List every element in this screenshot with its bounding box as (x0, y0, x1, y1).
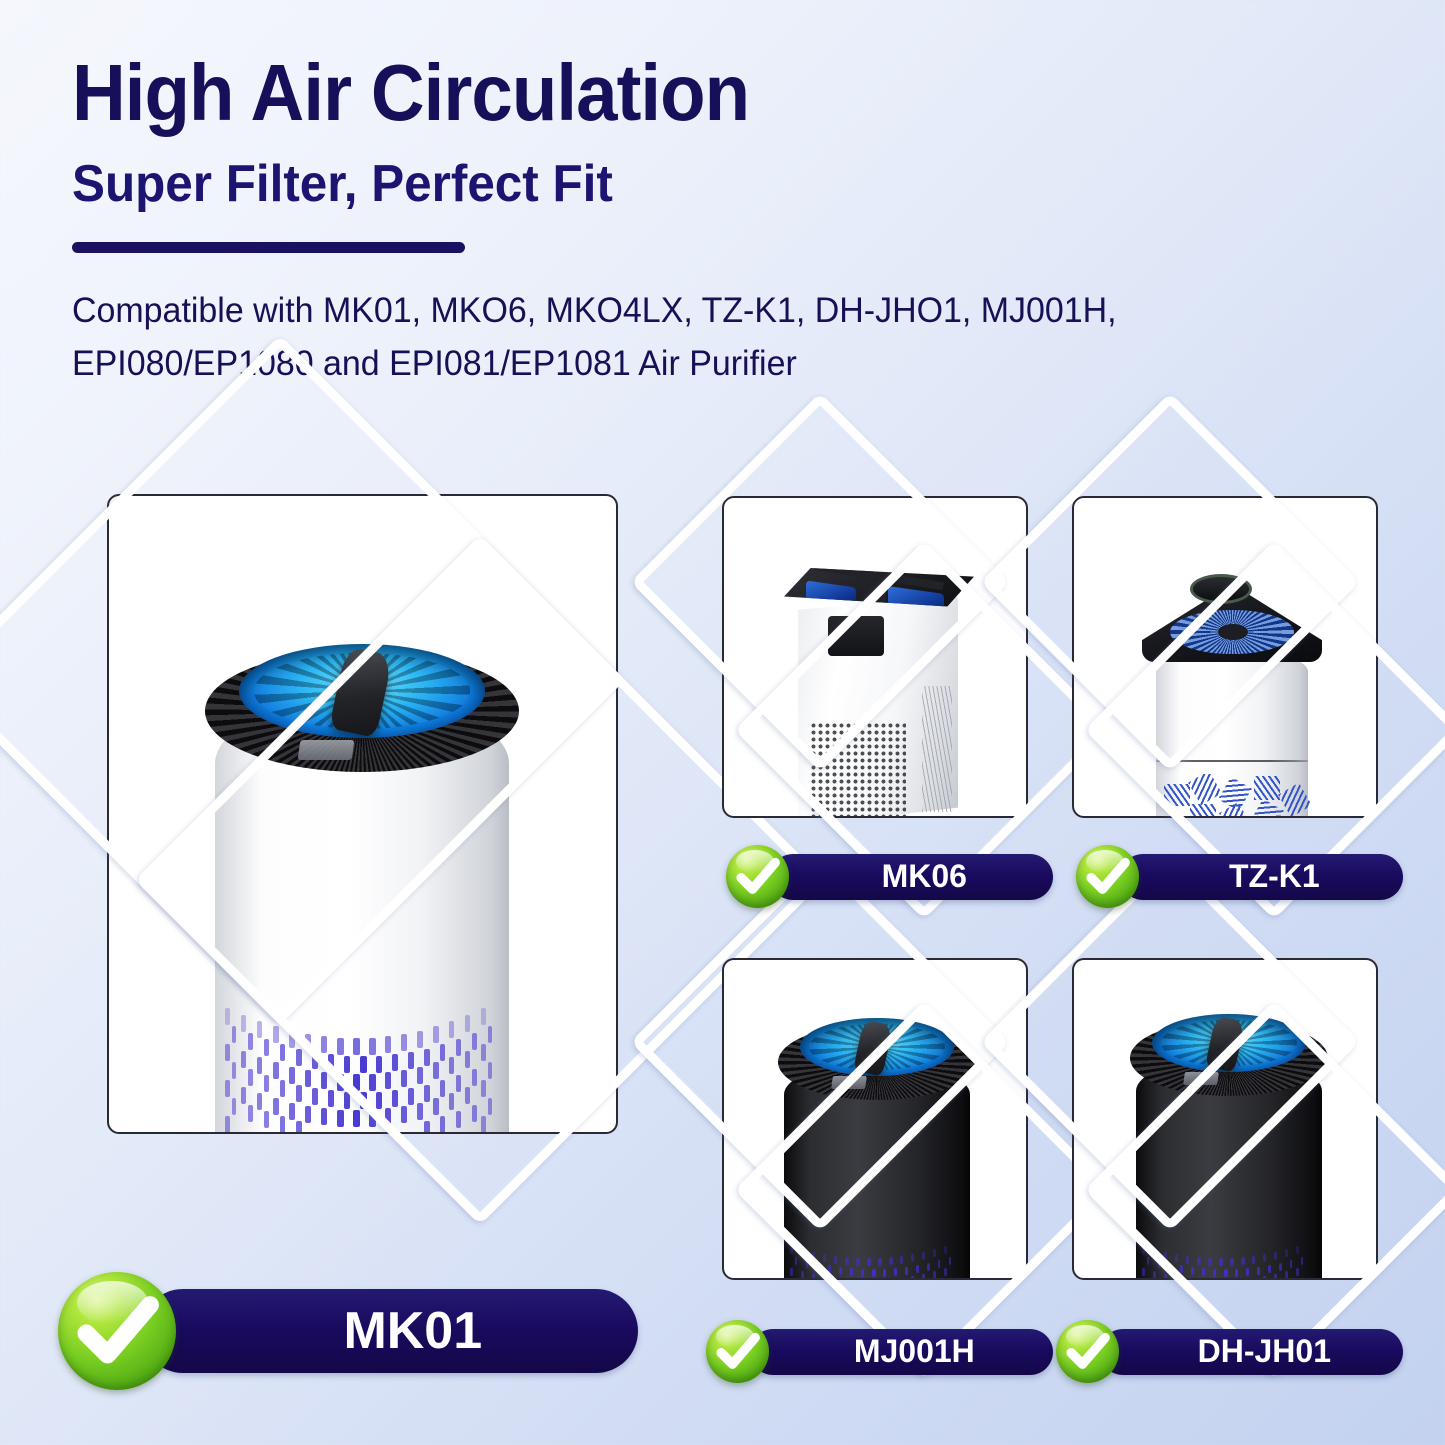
badge-dhjh01: DH-JH01 (1056, 1320, 1403, 1383)
badge-label-mj001h: MJ001H (750, 1329, 1053, 1375)
dhjh01-purifier-art (1114, 1008, 1342, 1280)
check-icon (726, 845, 789, 908)
badge-mk01: MK01 (58, 1272, 638, 1390)
badge-label-dhjh01: DH-JH01 (1100, 1329, 1403, 1375)
mk01-purifier-art (187, 636, 537, 1134)
check-icon (1056, 1320, 1119, 1383)
check-icon (1076, 845, 1139, 908)
thumb-mj001h (722, 958, 1028, 1280)
badge-mk06: MK06 (726, 845, 1053, 908)
badge-label-tzk1: TZ-K1 (1120, 854, 1403, 900)
badge-label-mk06: MK06 (770, 854, 1053, 900)
page-title: High Air Circulation (72, 52, 1281, 134)
compatibility-text: Compatible with MK01, MKO6, MKO4LX, TZ-K… (72, 284, 1333, 390)
badge-mj001h: MJ001H (706, 1320, 1053, 1383)
badge-label-mk01: MK01 (141, 1289, 638, 1373)
badge-tzk1: TZ-K1 (1076, 845, 1403, 908)
thumb-dhjh01 (1072, 958, 1378, 1280)
tzk1-purifier-art (1122, 552, 1334, 818)
mk06-purifier-art (766, 550, 986, 818)
header: High Air Circulation Super Filter, Perfe… (72, 52, 1372, 390)
check-icon (706, 1320, 769, 1383)
page-subtitle: Super Filter, Perfect Fit (72, 156, 1307, 212)
title-divider (72, 242, 465, 253)
check-icon (58, 1272, 176, 1390)
main-product-image (107, 494, 618, 1134)
thumb-tzk1 (1072, 496, 1378, 818)
mj001h-purifier-art (762, 1010, 990, 1280)
thumb-mk06 (722, 496, 1028, 818)
